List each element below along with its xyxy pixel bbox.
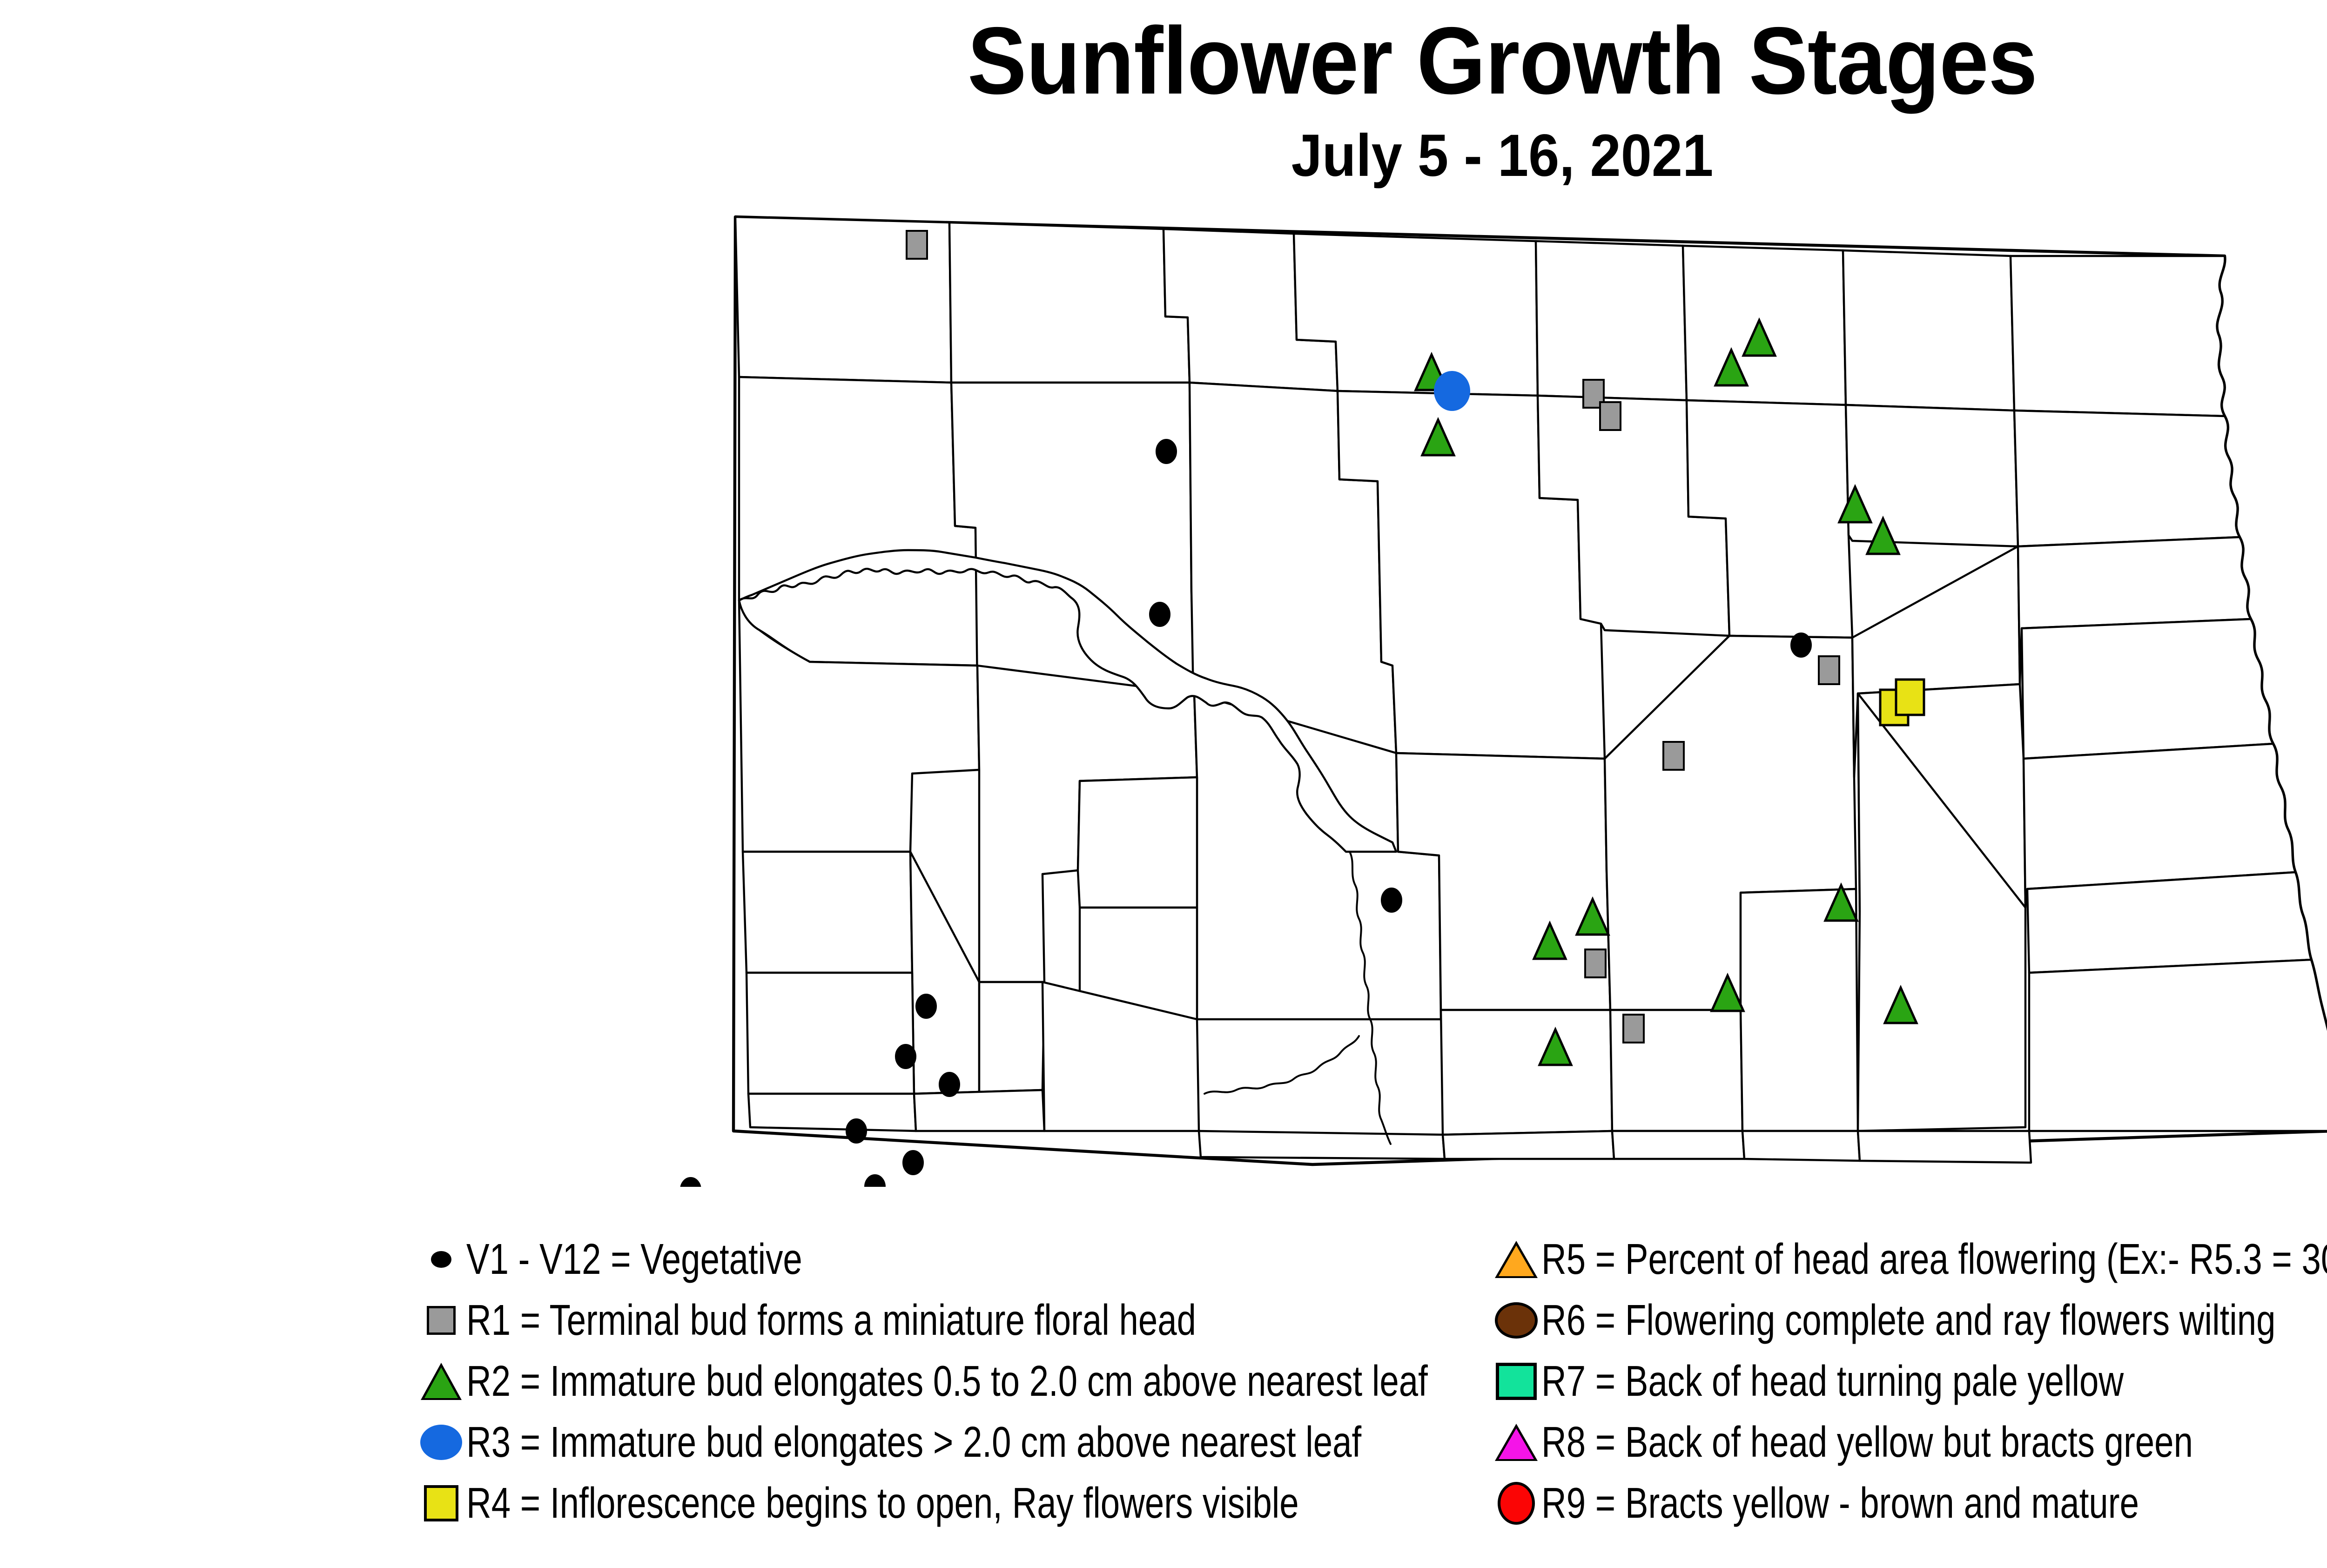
county-sioux xyxy=(1199,1131,1445,1159)
legend-item-r1[interactable]: R1 = Terminal bud forms a miniature flor… xyxy=(419,1290,1536,1351)
legend-item-v[interactable]: V1 - V12 = Vegetative xyxy=(419,1229,1536,1290)
county-pembina xyxy=(2011,256,2225,416)
county-stutsman xyxy=(1741,889,1858,1131)
map-marker-r1[interactable] xyxy=(907,231,927,259)
map-marker-v[interactable] xyxy=(846,1119,867,1143)
legend-label-v: V1 - V12 = Vegetative xyxy=(466,1234,802,1284)
county-adams xyxy=(914,1090,1044,1131)
county-towner xyxy=(1683,246,1846,405)
map-marker-v[interactable] xyxy=(939,1072,960,1097)
page-root: Sunflower Growth Stages July 5 - 16, 202… xyxy=(0,0,2327,1568)
map-marker-r1[interactable] xyxy=(1585,949,1606,977)
green-triangle-icon xyxy=(419,1356,464,1407)
legend-item-r9[interactable]: R9 = Bracts yellow - brown and mature xyxy=(1494,1473,2327,1534)
county-mountrail xyxy=(951,383,1194,693)
map-svg xyxy=(642,200,2327,1187)
legend-item-r8[interactable]: R8 = Back of head yellow but bracts gree… xyxy=(1494,1412,2327,1473)
map-marker-v[interactable] xyxy=(903,1151,923,1175)
map-marker-r1[interactable] xyxy=(1623,1015,1644,1043)
legend-label-r9: R9 = Bracts yellow - brown and mature xyxy=(1541,1478,2139,1528)
county-emmons xyxy=(1443,1131,1614,1159)
gray-square-icon xyxy=(419,1295,464,1346)
map-marker-r1[interactable] xyxy=(1663,742,1684,770)
map-marker-v[interactable] xyxy=(680,1178,701,1187)
legend-label-r8: R8 = Back of head yellow but bracts gree… xyxy=(1541,1417,2193,1467)
map-marker-v[interactable] xyxy=(1156,439,1177,464)
county-ransom xyxy=(1858,1131,2031,1163)
county-lamoure xyxy=(1742,1131,1860,1161)
brown-circle-icon xyxy=(1494,1295,1539,1346)
blue-circle-icon xyxy=(419,1417,464,1468)
map-marker-v[interactable] xyxy=(865,1175,885,1187)
legend-item-r3[interactable]: R3 = Immature bud elongates > 2.0 cm abo… xyxy=(419,1412,1536,1473)
north-dakota-map[interactable] xyxy=(642,200,2327,1187)
legend-label-r4: R4 = Inflorescence begins to open, Ray f… xyxy=(466,1478,1299,1528)
county-cavalier xyxy=(1843,250,2014,411)
legend-label-r5: R5 = Percent of head area flowering (Ex:… xyxy=(1541,1234,2327,1284)
county-ramsey xyxy=(1846,405,2018,546)
county-richland xyxy=(2029,960,2327,1131)
county-mercer xyxy=(1078,777,1197,908)
legend-label-r7: R7 = Back of head turning pale yellow xyxy=(1541,1356,2124,1406)
county-walsh xyxy=(2014,411,2240,546)
red-circle-icon xyxy=(1494,1478,1539,1529)
legend-column-left: V1 - V12 = Vegetative R1 = Terminal bud … xyxy=(419,1229,1536,1534)
legend-label-r3: R3 = Immature bud elongates > 2.0 cm abo… xyxy=(466,1417,1361,1467)
county-logan xyxy=(1612,1131,1744,1159)
yellow-square-icon xyxy=(419,1478,464,1529)
county-burke xyxy=(949,222,1190,383)
legend-item-r5[interactable]: R5 = Percent of head area flowering (Ex:… xyxy=(1494,1229,2327,1290)
legend-label-r6: R6 = Flowering complete and ray flowers … xyxy=(1541,1295,2276,1345)
legend-label-r1: R1 = Terminal bud forms a miniature flor… xyxy=(466,1295,1196,1345)
county-goldenvalley xyxy=(743,852,912,973)
map-marker-r1[interactable] xyxy=(1600,402,1621,430)
map-marker-r3[interactable] xyxy=(1434,371,1470,411)
map-marker-v[interactable] xyxy=(1791,633,1811,657)
legend-item-r2[interactable]: R2 = Immature bud elongates 0.5 to 2.0 c… xyxy=(419,1351,1536,1412)
map-marker-v[interactable] xyxy=(1150,602,1170,626)
county-slope xyxy=(747,973,914,1094)
magenta-triangle-icon xyxy=(1494,1417,1539,1468)
legend: V1 - V12 = Vegetative R1 = Terminal bud … xyxy=(0,1229,2327,1564)
page-title: Sunflower Growth Stages xyxy=(105,13,2327,108)
county-boundaries xyxy=(733,217,2327,1164)
map-marker-r4[interactable] xyxy=(1896,680,1924,715)
legend-item-r7[interactable]: R7 = Back of head turning pale yellow xyxy=(1494,1351,2327,1412)
legend-label-r2: R2 = Immature bud elongates 0.5 to 2.0 c… xyxy=(466,1356,1428,1406)
map-marker-v[interactable] xyxy=(916,994,936,1018)
county-rolette xyxy=(1536,241,1687,400)
black-dot-icon xyxy=(419,1234,464,1285)
county-grandforks xyxy=(2022,619,2273,759)
map-marker-v[interactable] xyxy=(895,1044,916,1069)
title-block: Sunflower Growth Stages July 5 - 16, 202… xyxy=(0,0,2327,186)
county-burleigh xyxy=(1441,1010,1612,1135)
legend-item-r4[interactable]: R4 = Inflorescence begins to open, Ray f… xyxy=(419,1473,1536,1534)
map-marker-r1[interactable] xyxy=(1819,656,1839,684)
county-traill xyxy=(2027,872,2311,973)
map-marker-v[interactable] xyxy=(1381,888,1402,912)
county-williams xyxy=(739,377,977,666)
county-bowman xyxy=(748,1094,916,1131)
orange-triangle-icon xyxy=(1494,1234,1539,1285)
legend-column-right: R5 = Percent of head area flowering (Ex:… xyxy=(1494,1229,2327,1534)
legend-item-r6[interactable]: R6 = Flowering complete and ray flowers … xyxy=(1494,1290,2327,1351)
page-subtitle: July 5 - 16, 2021 xyxy=(105,126,2327,186)
teal-square-icon xyxy=(1494,1356,1539,1407)
